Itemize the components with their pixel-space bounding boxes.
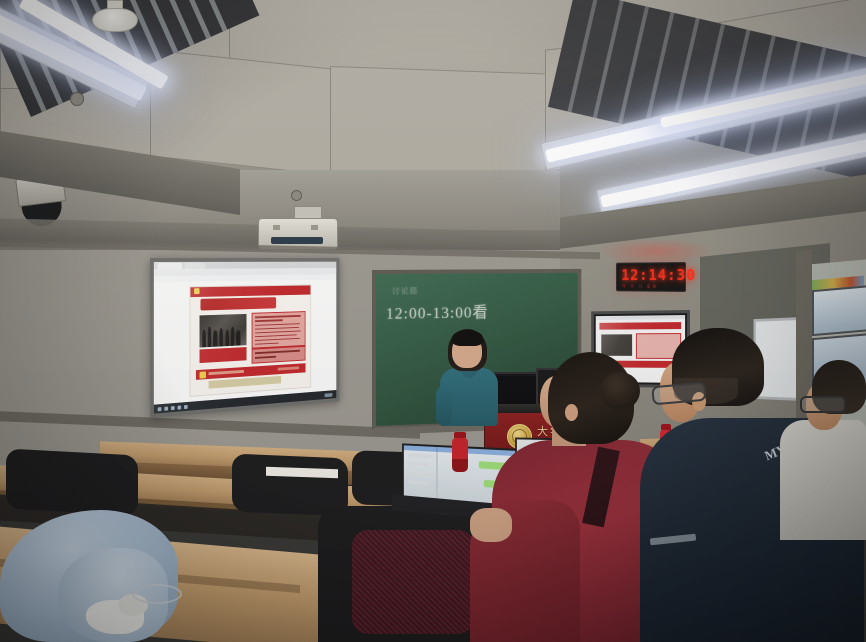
jacket-sleeve-logo	[650, 534, 696, 546]
classroom-photo: 讨论题 12:00-13:00看 12:14:30 年 月 日 星期	[0, 0, 866, 642]
slide-note-box	[251, 346, 305, 363]
presenter-hair-fringe	[452, 330, 483, 346]
slide-photo-caption	[199, 347, 246, 363]
presenter-arm	[436, 386, 452, 426]
cpc-emblem-icon	[194, 288, 199, 294]
slide-header-bar	[191, 285, 311, 297]
student-white-shirt-glasses	[800, 396, 846, 413]
browser-viewport	[154, 280, 336, 405]
clock-time-display: 12:14:30	[621, 266, 696, 284]
sprinkler-head	[291, 190, 302, 201]
sprinkler-head	[70, 92, 84, 106]
smoke-detector	[92, 8, 138, 32]
office-chair[interactable]	[6, 449, 138, 516]
student-woman-hair-bun	[600, 372, 640, 410]
window-pane-upper	[812, 285, 866, 336]
coke-bottle[interactable]	[452, 432, 468, 472]
projected-browser-slide	[154, 262, 336, 414]
slide-historical-photo	[199, 314, 246, 348]
cpc-emblem-icon	[199, 372, 205, 379]
eyeglasses	[132, 584, 182, 604]
clock-date-row: 年 月 日 星期	[622, 284, 658, 290]
slide-body-text-box	[251, 311, 305, 349]
presentation-slide	[190, 284, 312, 396]
chalkboard-faint-text: 讨论题	[392, 286, 418, 297]
projection-screen	[150, 258, 339, 418]
student-woman-ear	[565, 404, 578, 421]
chalkboard-main-text: 12:00-13:00看	[386, 299, 489, 324]
projector-lens	[271, 237, 323, 244]
clock-glow	[596, 238, 716, 264]
wall-display-header	[599, 322, 681, 330]
student-white-shirt-torso	[780, 420, 866, 540]
wall-display-photo	[601, 334, 633, 355]
student-woman-hand	[470, 508, 512, 542]
led-wall-clock: 12:14:30 年 月 日 星期	[616, 262, 686, 292]
slide-title-banner	[201, 297, 276, 311]
office-chair-mesh	[352, 530, 474, 634]
wall-display-browser-bar	[596, 315, 685, 320]
